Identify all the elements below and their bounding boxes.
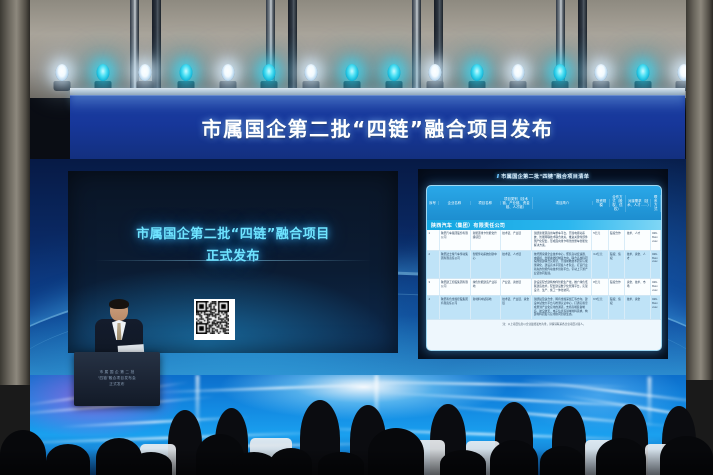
table-footnote: 注：以上项目信息以企业最终发布为准，详情请联系各企业项目对接人。 bbox=[427, 320, 661, 328]
table-header-row: 序号企业名称项目名称项目类别（技术链、产业链、资金链、人才链）项目简介投资规模合… bbox=[427, 186, 661, 220]
table-cell: 6.5亿元 bbox=[592, 296, 609, 320]
stage-light bbox=[509, 62, 528, 91]
table-cell: 建设装配式建筑构件智能生产线，推广绿色低碳建造技术，配套建设数字化管理平台，实现… bbox=[532, 279, 591, 295]
lamp-bulb bbox=[470, 64, 483, 81]
table-cell: 8亿元 bbox=[592, 279, 609, 295]
lamp-bulb bbox=[138, 64, 151, 81]
table-cell: 3.2亿元 bbox=[592, 251, 609, 278]
table-cell: 陕西建工控股集团有限公司 bbox=[440, 279, 472, 295]
slide-title-line1: 市属国企第二批“四链”融合项目 bbox=[68, 223, 398, 242]
table-cell: 技术链、人才链 bbox=[501, 251, 533, 278]
stage-light bbox=[94, 62, 113, 91]
stage-light bbox=[177, 62, 196, 91]
qr-code-icon bbox=[194, 299, 235, 340]
truss-column bbox=[288, 0, 297, 92]
table-cell: 029-8xxxxxxx bbox=[651, 251, 661, 278]
lamp-bulb bbox=[429, 64, 442, 81]
table-cell: 股权、债权 bbox=[609, 251, 626, 278]
stage-light bbox=[633, 62, 652, 91]
table-cell: 围绕钛及钛合金、稀有金属深加工等方向，建设中试放大平台与检测认证中心，打通实验室… bbox=[532, 296, 591, 320]
stage-light bbox=[135, 62, 154, 91]
right-slide-panel: ///市属国企第二批“四链”融合项目清单 序号企业名称项目名称项目类别（技术链、… bbox=[418, 169, 668, 359]
table-cell: 3 bbox=[427, 279, 440, 295]
table-column-header: 对接需求（技术、人才……） bbox=[626, 199, 651, 208]
table-row: 2陕西法士特汽车传动集团有限责任公司智能传动系统创新中心技术链、人才链依托国家级… bbox=[427, 251, 661, 279]
lamp-bulb bbox=[180, 64, 193, 81]
table-cell: 依托国家级企业技术中心，聚焦自动变速器、电驱桥、智能换挡控制等方向，联合高校科研… bbox=[532, 251, 591, 278]
table-row: 3陕西建工控股集团有限公司绿色智能建造产业基地产业链、资金链建设装配式建筑构件智… bbox=[427, 279, 661, 296]
table-cell: 新材料中试基地 bbox=[471, 296, 501, 320]
slash-decoration: /// bbox=[497, 174, 498, 180]
table-cell: 029-8xxxxxxx bbox=[651, 296, 661, 320]
table-cell: 技术链、产业链、资金链 bbox=[501, 296, 533, 320]
table-column-header: 投资规模 bbox=[593, 199, 609, 208]
speaker-hair bbox=[109, 299, 129, 309]
vertical-light-beam bbox=[648, 377, 651, 429]
lamp-bulb bbox=[512, 64, 525, 81]
lamp-bulb bbox=[595, 64, 608, 81]
table-cell: 绿色智能建造产业基地 bbox=[471, 279, 501, 295]
banner-title: 市属国企第二批“四链”融合项目发布 bbox=[70, 113, 685, 142]
stage-light bbox=[426, 62, 445, 91]
table-cell: 陕西法士特汽车传动集团有限责任公司 bbox=[440, 251, 472, 278]
table-cell: 技术、人才 bbox=[625, 230, 650, 250]
table-cell: 1 bbox=[427, 230, 440, 250]
truss-column bbox=[578, 0, 587, 92]
stage-banner: 市属国企第二批“四链”融合项目发布 bbox=[70, 95, 685, 159]
table-cell: 技术链、产业链 bbox=[501, 230, 533, 250]
light-streak bbox=[150, 382, 410, 393]
table-cell: 4 bbox=[427, 296, 440, 320]
lamp-bulb bbox=[387, 64, 400, 81]
foreground-vignette bbox=[0, 449, 713, 475]
podium-line3: 正式发布 bbox=[74, 382, 160, 388]
conference-stage-photo: 市属国企第二批“四链”融合项目发布 市属国企第二批“四链”融合项目 正式发布 /… bbox=[0, 0, 713, 475]
stage-light bbox=[52, 62, 71, 91]
left-pillar bbox=[0, 0, 30, 385]
stage-light bbox=[260, 62, 279, 91]
table-cell: 股权合作 bbox=[609, 279, 626, 295]
truss-column bbox=[412, 0, 421, 92]
table-column-header: 项目简介 bbox=[533, 201, 594, 205]
table-cell: 029-8xxxxxxx bbox=[651, 279, 661, 295]
table-cell: 资金、技术、市场 bbox=[625, 279, 650, 295]
table-column-header: 项目名称 bbox=[471, 201, 501, 205]
stage-light bbox=[592, 62, 611, 91]
lamp-bulb bbox=[346, 64, 359, 81]
table-slide-banner: ///市属国企第二批“四链”融合项目清单 bbox=[418, 173, 668, 180]
table-cell: 技术、资金 bbox=[625, 296, 650, 320]
table-cell: 股权合作 bbox=[609, 230, 626, 250]
stage-light bbox=[343, 62, 362, 91]
table-cell: 新能源重卡智能化升级项目 bbox=[471, 230, 501, 250]
table-cell: 围绕新能源商用车整车平台，开展电驱动系统、智能网联技术联合攻关，推进关键零部件国… bbox=[532, 230, 591, 250]
stage-light bbox=[550, 62, 569, 91]
table-cell: 5亿元 bbox=[592, 230, 609, 250]
table-slide-title: 市属国企第二批“四链”融合项目清单 bbox=[501, 174, 589, 180]
project-list-table: 序号企业名称项目名称项目类别（技术链、产业链、资金链、人才链）项目简介投资规模合… bbox=[426, 185, 662, 351]
lamp-bulb bbox=[97, 64, 110, 81]
lamp-bulb bbox=[55, 64, 68, 81]
lamp-bulb bbox=[304, 64, 317, 81]
right-pillar bbox=[686, 0, 713, 380]
table-cell: 029-8xxxxxxx bbox=[651, 230, 661, 250]
podium-text: 市 属 国 企 第 二 批 “四链”融合项目发布会 正式发布 bbox=[74, 370, 160, 387]
podium: 市 属 国 企 第 二 批 “四链”融合项目发布会 正式发布 bbox=[74, 352, 160, 406]
stage-light bbox=[384, 62, 403, 91]
table-column-header: 合作方式（股权、债权） bbox=[610, 195, 626, 212]
lamp-bulb bbox=[263, 64, 276, 81]
table-row: 1陕西汽车集团股份有限公司新能源重卡智能化升级项目技术链、产业链围绕新能源商用车… bbox=[427, 230, 661, 251]
lamp-bulb bbox=[553, 64, 566, 81]
table-cell: 产业链、资金链 bbox=[501, 279, 533, 295]
stage-light bbox=[467, 62, 486, 91]
lamp-body bbox=[53, 81, 70, 91]
table-cell: 2 bbox=[427, 251, 440, 278]
table-cell: 陕西有色金属控股集团有限责任公司 bbox=[440, 296, 472, 320]
table-body: 1陕西汽车集团股份有限公司新能源重卡智能化升级项目技术链、产业链围绕新能源商用车… bbox=[427, 230, 661, 320]
table-group-row: 陕西汽车（集团）有限责任公司 bbox=[427, 220, 661, 230]
table-column-header: 企业名称 bbox=[439, 201, 471, 205]
table-cell: 智能传动系统创新中心 bbox=[471, 251, 501, 278]
table-cell: 陕西汽车集团股份有限公司 bbox=[440, 230, 472, 250]
lamp-bulb bbox=[221, 64, 234, 81]
table-row: 4陕西有色金属控股集团有限责任公司新材料中试基地技术链、产业链、资金链围绕钛及钛… bbox=[427, 296, 661, 321]
stage-light bbox=[218, 62, 237, 91]
table-column-header: 联系方式 bbox=[651, 195, 661, 212]
table-cell: 股权、债权 bbox=[609, 296, 626, 320]
lamp-bulb bbox=[636, 64, 649, 81]
slide-title-line2: 正式发布 bbox=[68, 245, 398, 264]
table-cell: 技术、资金、人才 bbox=[625, 251, 650, 278]
table-column-header: 序号 bbox=[427, 201, 439, 205]
table-column-header: 项目类别（技术链、产业链、资金链、人才链） bbox=[501, 197, 533, 210]
banner-glow bbox=[70, 89, 685, 111]
stage-light bbox=[301, 62, 320, 91]
